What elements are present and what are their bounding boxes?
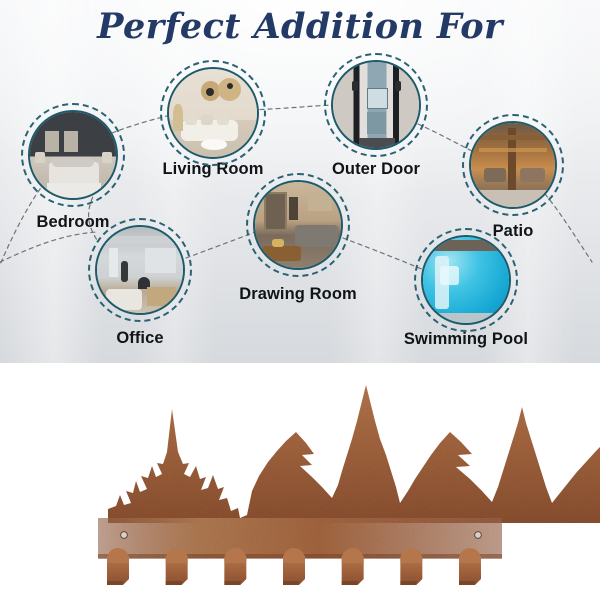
scene-photo-office[interactable] [95, 225, 185, 315]
scene-detail [520, 168, 545, 181]
scene-art-swimming-pool [423, 237, 509, 323]
scene-node-bedroom[interactable] [21, 103, 125, 207]
hook [283, 548, 305, 585]
scene-detail [106, 289, 142, 310]
scene-detail [47, 183, 100, 198]
scene-detail [479, 148, 546, 152]
scene-photo-swimming-pool[interactable] [421, 235, 511, 325]
mountain-pine-hook-rack-icon [0, 363, 600, 600]
scene-photo-patio[interactable] [469, 121, 557, 209]
scene-node-swimming-pool[interactable] [414, 228, 518, 332]
scene-detail [121, 261, 128, 282]
scene-detail [217, 115, 229, 126]
scene-art-bedroom [30, 112, 116, 198]
screw-hole [121, 532, 128, 539]
scene-art-drawing-room [255, 182, 341, 268]
scene-detail [185, 115, 197, 126]
scene-detail [102, 152, 111, 163]
hook [107, 548, 129, 585]
scene-detail [201, 139, 227, 150]
scene-photo-bedroom[interactable] [28, 110, 118, 200]
hook [342, 548, 364, 585]
scene-detail [52, 157, 93, 167]
scene-detail [479, 190, 550, 207]
scene-detail [395, 81, 401, 91]
scene-detail [64, 131, 78, 152]
scene-detail [359, 138, 395, 148]
scene-detail [289, 197, 298, 219]
infographic-page: Perfect Addition For BedroomLiving RoomO… [0, 0, 600, 600]
scene-art-living-room [169, 69, 257, 157]
product-image-area [0, 363, 600, 600]
scene-detail [109, 248, 118, 277]
scene-detail [262, 246, 302, 261]
scene-node-office[interactable] [88, 218, 192, 322]
scene-detail [147, 287, 176, 306]
scene-detail [440, 266, 459, 285]
scene-detail [35, 152, 44, 163]
scene-node-living-room[interactable] [160, 60, 266, 166]
scene-photo-outer-door[interactable] [331, 60, 421, 150]
scene-label-drawing-room: Drawing Room [239, 285, 357, 304]
scene-detail [484, 168, 506, 181]
hook [166, 548, 188, 585]
scene-art-outer-door [333, 62, 419, 148]
scene-detail [201, 115, 213, 126]
hook [400, 548, 422, 585]
scene-detail [295, 225, 338, 247]
scene-photo-living-room[interactable] [167, 67, 259, 159]
scene-detail [45, 131, 59, 152]
scene-detail [104, 236, 176, 245]
hook [224, 548, 246, 585]
scene-detail [145, 248, 176, 274]
scene-label-office: Office [116, 329, 163, 348]
scene-detail [476, 135, 550, 140]
scene-detail [308, 196, 332, 211]
screw-hole [475, 532, 482, 539]
scene-label-swimming-pool: Swimming Pool [404, 330, 528, 349]
scene-detail [218, 78, 241, 101]
scene-art-patio [471, 123, 555, 207]
scene-detail [264, 192, 287, 230]
scene-detail [426, 240, 505, 250]
scene-detail [272, 239, 284, 248]
page-title: Perfect Addition For [0, 6, 600, 47]
scene-detail [367, 88, 388, 109]
hook [459, 548, 481, 585]
scene-detail [173, 104, 184, 130]
scene-detail [352, 81, 358, 91]
scene-node-outer-door[interactable] [324, 53, 428, 157]
scene-node-drawing-room[interactable] [246, 173, 350, 277]
scene-detail [426, 313, 505, 323]
scene-photo-drawing-room[interactable] [253, 180, 343, 270]
scene-art-office [97, 227, 183, 313]
scene-node-patio[interactable] [462, 114, 564, 216]
scene-detail [367, 112, 386, 134]
